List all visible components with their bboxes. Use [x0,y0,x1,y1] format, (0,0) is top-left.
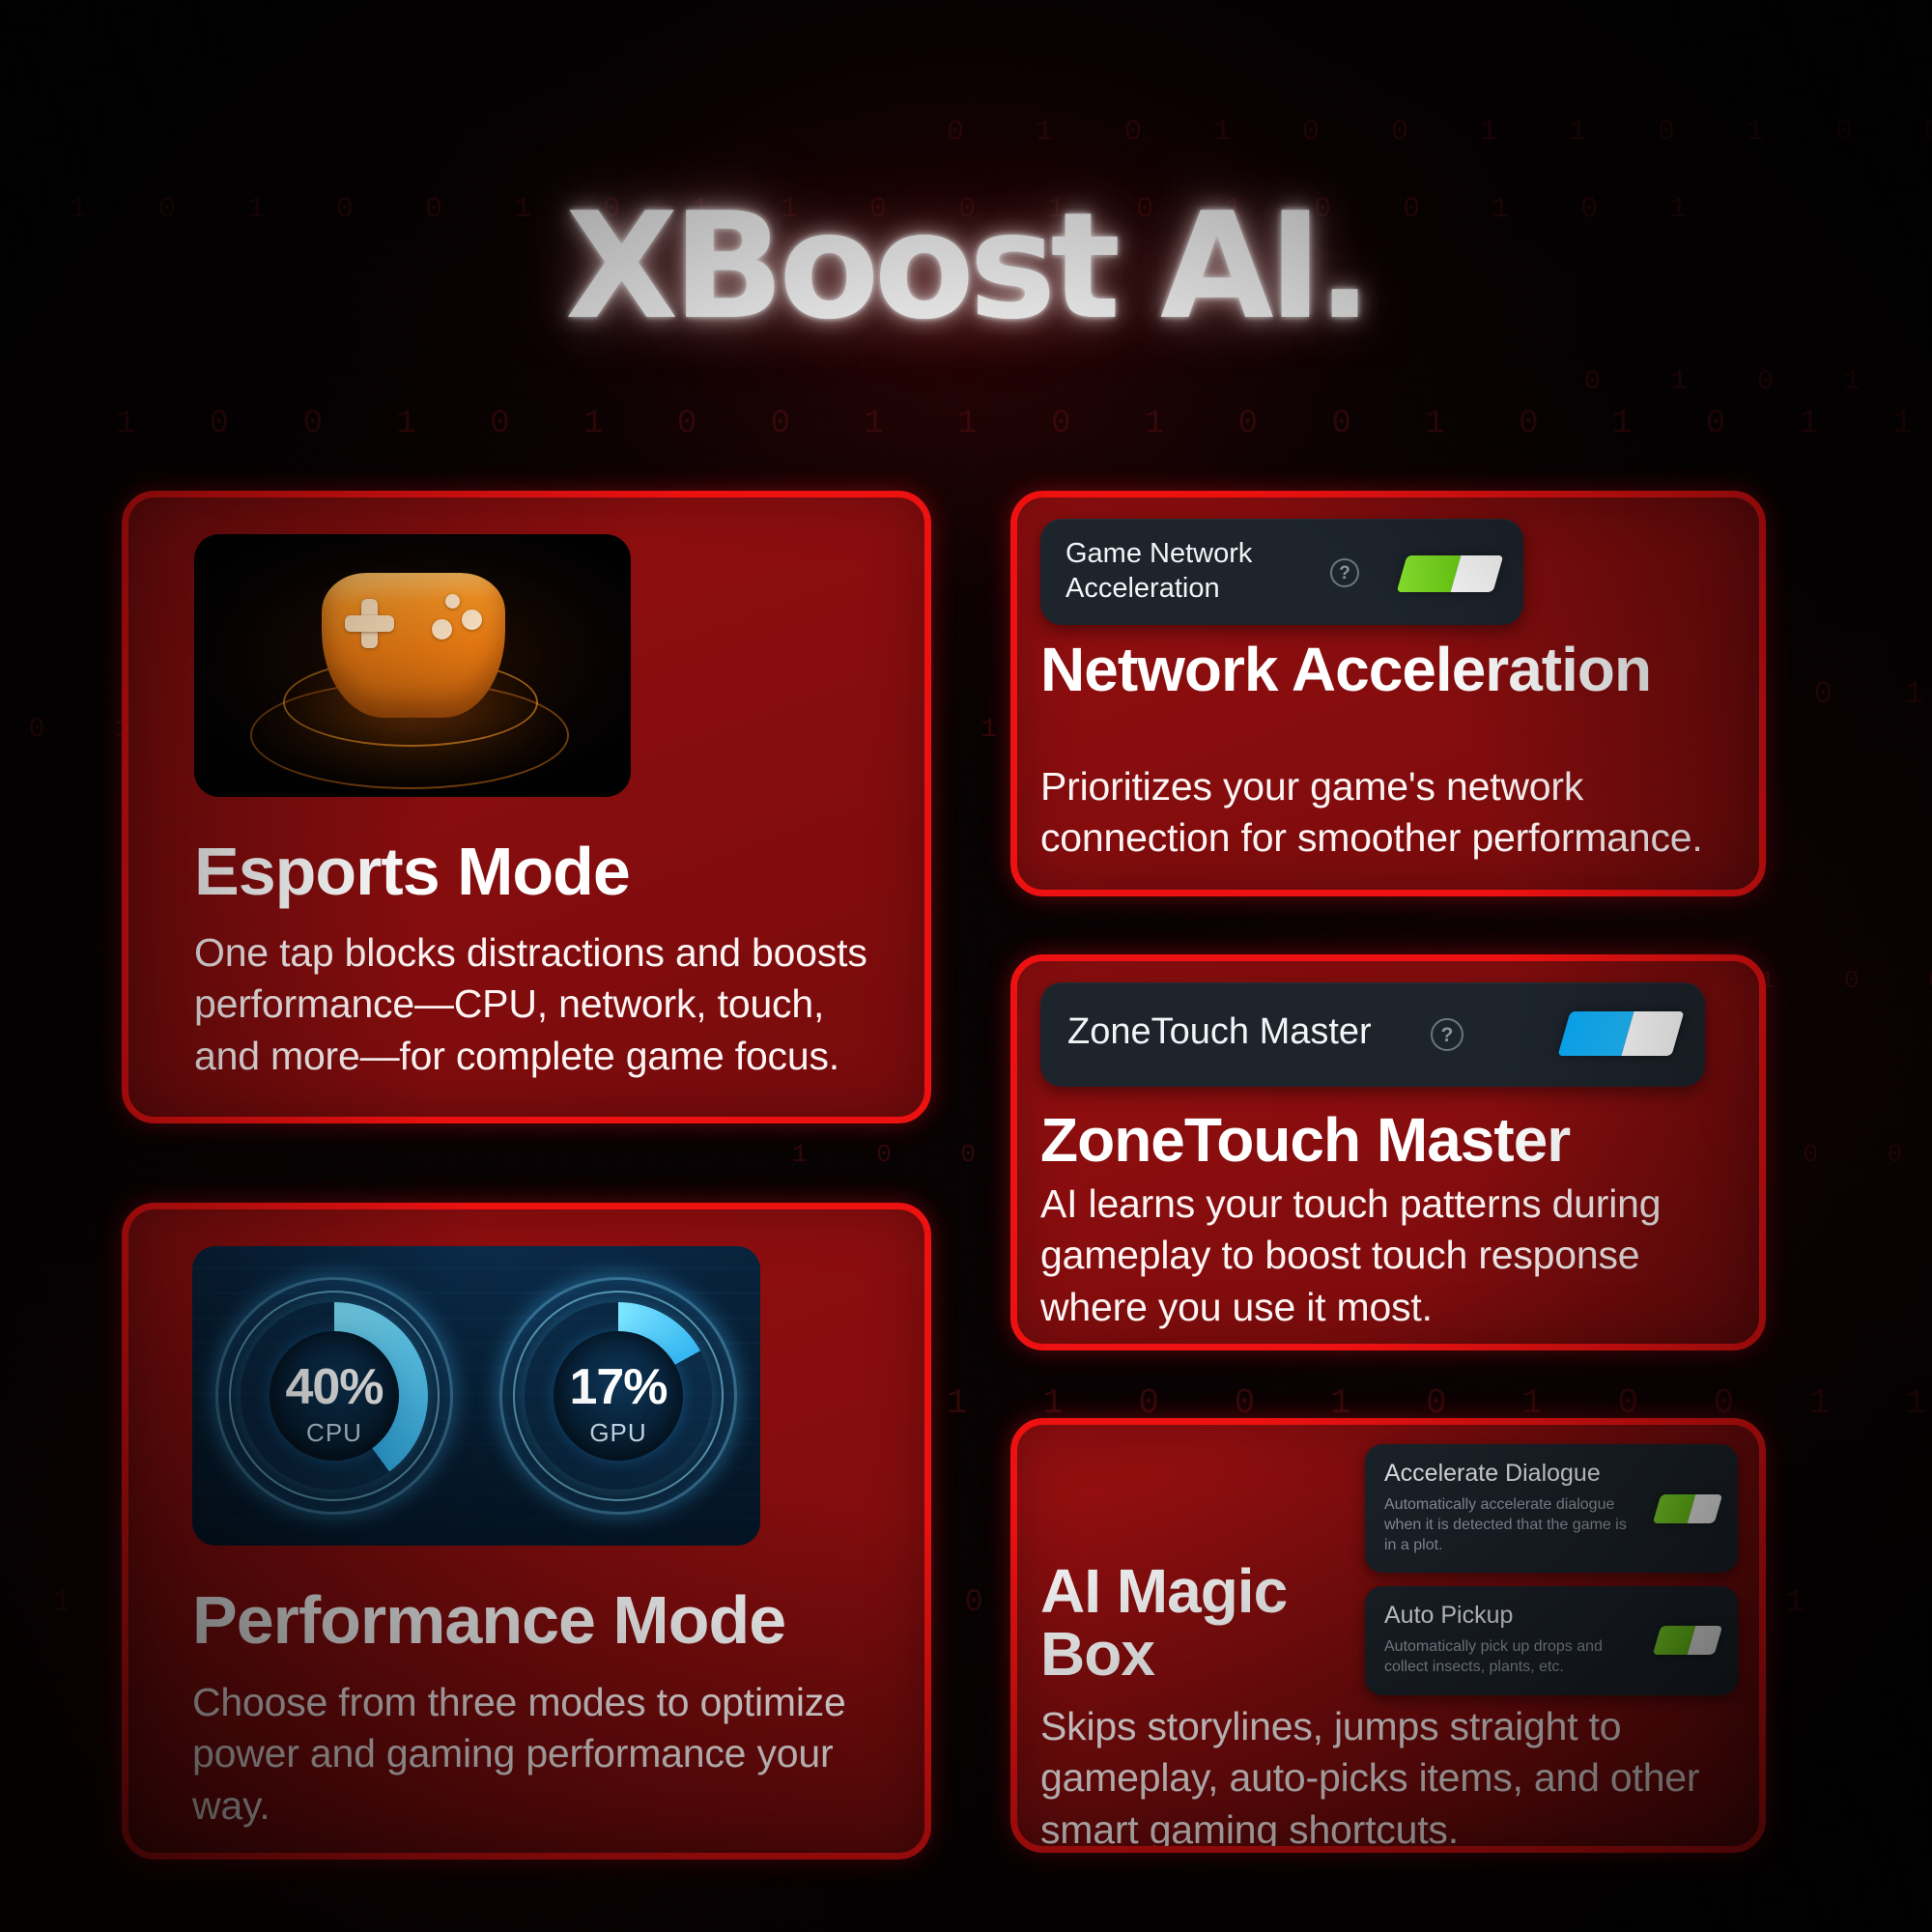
gauge-cpu: 40% CPU [215,1277,453,1515]
ai-magic-box-description: Skips storylines, jumps straight to game… [1040,1701,1732,1853]
zonetouch-master-setting-panel[interactable]: ZoneTouch Master ? [1040,982,1705,1087]
game-network-acceleration-toggle[interactable] [1397,555,1504,592]
zonetouch-master-description: AI learns your touch patterns during gam… [1040,1179,1726,1333]
list-item[interactable]: Auto Pickup Automatically pick up drops … [1365,1586,1738,1694]
esports-mode-description: One tap blocks distractions and boosts p… [194,927,870,1082]
gauge-gpu-value: 17% [499,1358,737,1416]
gauge-cpu-label: CPU [215,1418,453,1448]
esports-mode-title: Esports Mode [194,838,630,906]
binary-row: 0 1 0 1 0 0 1 1 0 1 0 0 1 0 1 0 0 1 1 0 … [947,116,1932,149]
card-performance-mode[interactable]: 40% CPU 17% GPU Performance Mode Choose … [122,1203,931,1860]
auto-pickup-detail: Automatically pick up drops and collect … [1384,1636,1631,1677]
binary-row: 1 1 0 0 1 0 1 0 0 1 1 0 1 0 0 1 0 1 0 0 … [947,1383,1932,1423]
help-icon[interactable]: ? [1431,1018,1463,1051]
accelerate-dialogue-toggle[interactable] [1653,1494,1723,1523]
ai-magic-box-settings-list: Accelerate Dialogue Automatically accele… [1365,1444,1738,1709]
card-esports-mode[interactable]: Esports Mode One tap blocks distractions… [122,491,931,1123]
page-title: XBoost AI. [0,193,1932,340]
gauge-cpu-value: 40% [215,1358,453,1416]
gauge-gpu-label: GPU [499,1418,737,1448]
ai-magic-box-title: AI Magic Box [1040,1560,1369,1687]
game-network-acceleration-label: Game Network Acceleration [1065,536,1307,607]
brand-wordmark: XBoost AI. [565,193,1367,340]
zonetouch-master-label: ZoneTouch Master [1067,1011,1372,1053]
performance-gauges-illustration: 40% CPU 17% GPU [192,1246,760,1546]
binary-row: 0 1 0 1 0 0 1 0 1 1 0 0 1 0 1 0 0 1 0 1 [1584,367,1932,397]
zonetouch-master-toggle[interactable] [1557,1011,1684,1056]
gamepad-icon [322,573,505,718]
accelerate-dialogue-detail: Automatically accelerate dialogue when i… [1384,1494,1631,1555]
accelerate-dialogue-label: Accelerate Dialogue [1384,1460,1719,1488]
network-acceleration-title: Network Acceleration [1040,639,1651,701]
zonetouch-master-title: ZoneTouch Master [1040,1109,1570,1172]
game-network-acceleration-setting-panel[interactable]: Game Network Acceleration ? [1040,519,1523,625]
network-acceleration-description: Prioritizes your game's network connecti… [1040,761,1717,865]
gamepad-illustration [194,534,631,797]
auto-pickup-toggle[interactable] [1653,1626,1723,1655]
gauge-gpu: 17% GPU [499,1277,737,1515]
card-zonetouch-master[interactable]: ZoneTouch Master ? ZoneTouch Master AI l… [1010,954,1766,1350]
performance-mode-title: Performance Mode [192,1586,785,1655]
binary-row: 1 0 0 1 0 1 0 0 1 1 0 1 0 0 1 0 1 0 1 1 … [116,406,1932,442]
card-network-acceleration[interactable]: Game Network Acceleration ? Network Acce… [1010,491,1766,896]
help-icon[interactable]: ? [1330,558,1359,587]
list-item[interactable]: Accelerate Dialogue Automatically accele… [1365,1444,1738,1573]
card-ai-magic-box[interactable]: Accelerate Dialogue Automatically accele… [1010,1418,1766,1853]
performance-mode-description: Choose from three modes to optimize powe… [192,1677,868,1832]
infographic-root: 0 1 0 1 0 0 1 0 1 1 0 0 1 0 1 0 0 1 0 1 … [0,0,1932,1932]
